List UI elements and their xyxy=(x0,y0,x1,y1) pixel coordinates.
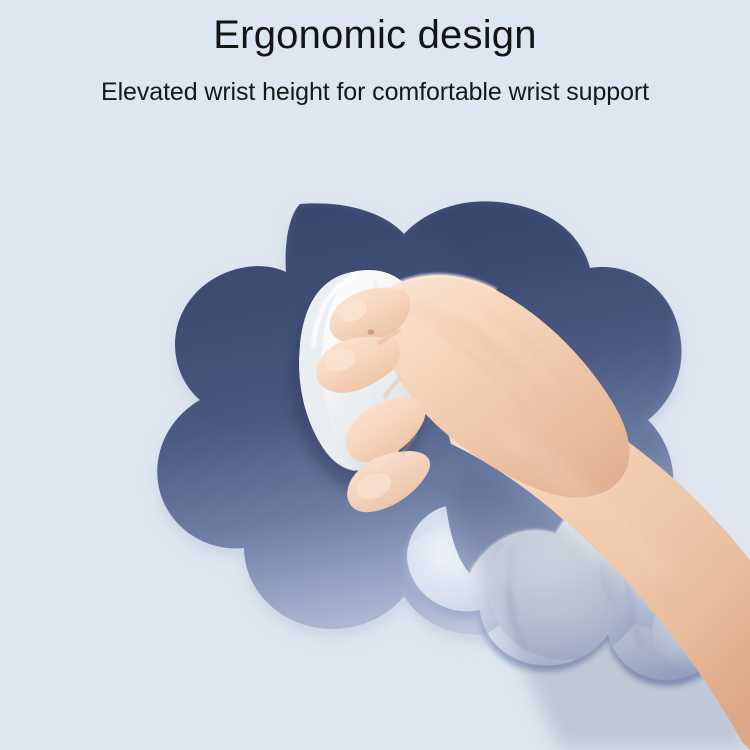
page-subtitle: Elevated wrist height for comfortable wr… xyxy=(0,58,750,107)
page-title: Ergonomic design xyxy=(0,0,750,58)
product-image-canvas: Ergonomic design Elevated wrist height f… xyxy=(0,0,750,750)
header-block: Ergonomic design Elevated wrist height f… xyxy=(0,0,750,107)
product-illustration xyxy=(0,0,750,750)
